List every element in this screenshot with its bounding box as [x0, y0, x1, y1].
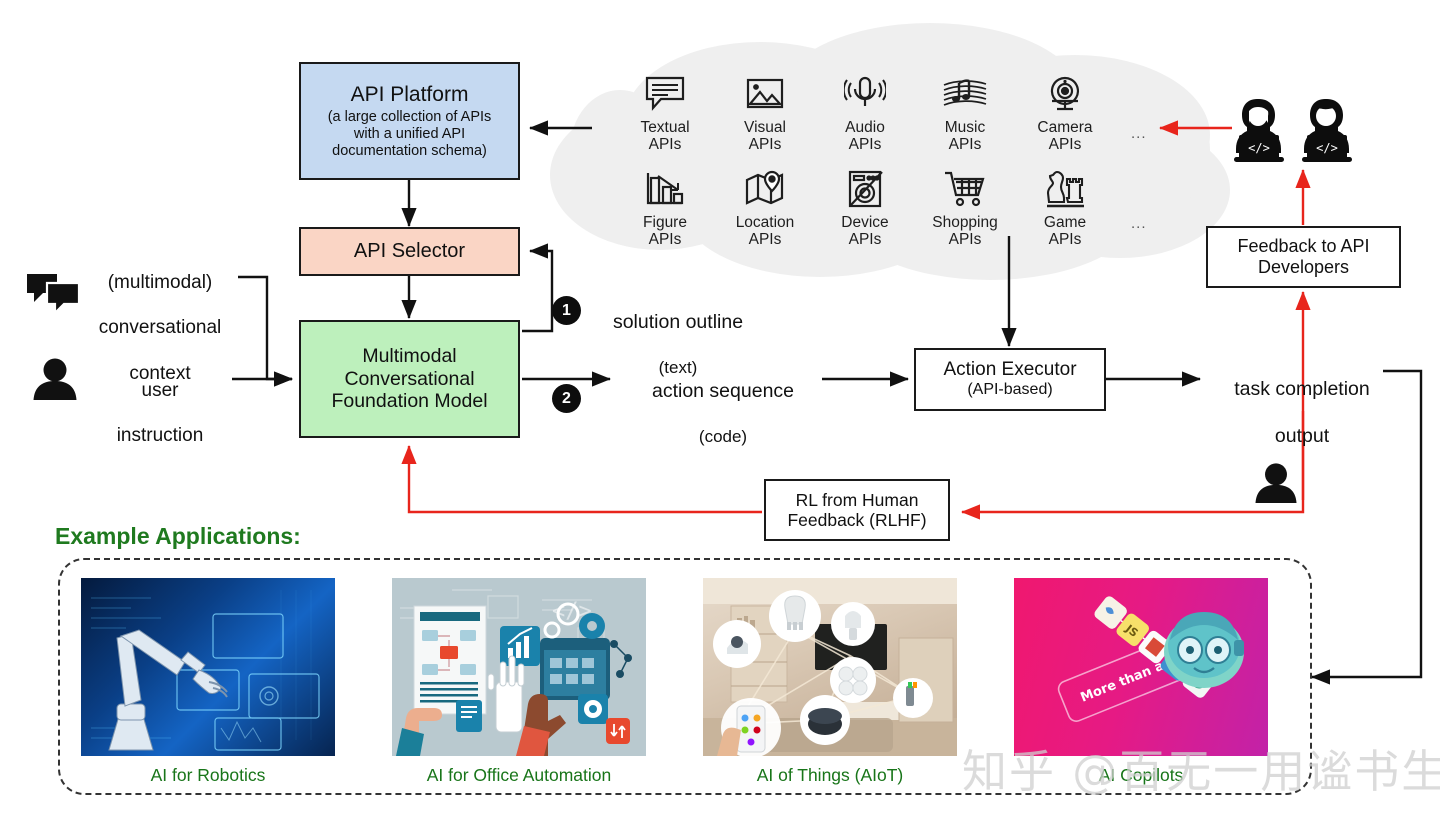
watermark: 知乎 @百无一用谧书生	[962, 735, 1440, 800]
audio-api-icon	[842, 72, 888, 116]
api-item-music[interactable]: Music APIs	[915, 72, 1015, 167]
api-item-device[interactable]: Device APIs	[815, 167, 915, 262]
action-executor-sub: (API-based)	[967, 381, 1052, 400]
chat-bubbles-icon	[25, 272, 81, 317]
api-suffix: APIs	[849, 136, 882, 153]
svg-text:</>: </>	[1316, 141, 1338, 155]
arrow-inputs-to-model	[238, 277, 292, 379]
context-line1: (multimodal)	[84, 272, 236, 295]
solution-outline-line1: solution outline	[592, 311, 764, 334]
api-platform-sub1: (a large collection of APIs	[328, 109, 492, 126]
step-1-badge: 1	[552, 296, 581, 325]
application-card-office-automation[interactable]: </>	[392, 578, 646, 786]
figure-api-icon	[642, 167, 688, 211]
api-suffix: APIs	[849, 231, 882, 248]
cloud-ellipsis-top: ...	[1131, 125, 1147, 142]
application-caption: AI for Robotics	[151, 765, 266, 786]
api-label: Device	[841, 214, 888, 231]
task-output-line1: task completion	[1202, 378, 1402, 401]
api-item-visual[interactable]: Visual APIs	[715, 72, 815, 167]
person-icon	[32, 357, 78, 406]
diagram-canvas: API Platform (a large collection of APIs…	[0, 0, 1440, 813]
api-platform-box[interactable]: API Platform (a large collection of APIs…	[299, 62, 520, 180]
music-api-icon	[942, 72, 988, 116]
api-suffix: APIs	[949, 231, 982, 248]
application-caption: AI of Things (AIoT)	[757, 765, 904, 786]
application-caption: AI for Office Automation	[427, 765, 612, 786]
api-suffix: APIs	[749, 231, 782, 248]
api-platform-sub3: documentation schema)	[332, 143, 487, 160]
visual-api-icon	[742, 72, 788, 116]
device-api-icon	[842, 167, 888, 211]
textual-api-icon	[642, 72, 688, 116]
api-item-textual[interactable]: Textual APIs	[615, 72, 715, 167]
api-label: Location	[736, 214, 795, 231]
api-label: Audio	[845, 119, 885, 136]
office-automation-illustration: </>	[392, 578, 646, 756]
feedback-line2: Developers	[1258, 257, 1349, 278]
api-platform-sub2: with a unified API	[354, 126, 465, 143]
application-card-aiot[interactable]: AI of Things (AIoT)	[703, 578, 957, 786]
shopping-api-icon	[942, 167, 988, 211]
api-icon-grid: Textual APIs Visual APIs	[615, 72, 1115, 262]
api-suffix: APIs	[649, 136, 682, 153]
feedback-to-api-developers-box[interactable]: Feedback to API Developers	[1206, 226, 1401, 288]
api-suffix: APIs	[749, 136, 782, 153]
api-label: Game	[1044, 214, 1086, 231]
foundation-model-line1: Multimodal	[362, 345, 456, 368]
action-sequence-line1: action sequence	[628, 380, 818, 403]
context-line2: conversational	[84, 317, 236, 340]
location-api-icon	[742, 167, 788, 211]
robotic-arm-blue-tech-photo	[81, 578, 335, 756]
api-item-shopping[interactable]: Shopping APIs	[915, 167, 1015, 262]
api-label: Camera	[1037, 119, 1092, 136]
task-output-line2: output	[1202, 425, 1402, 448]
api-suffix: APIs	[1049, 231, 1082, 248]
action-executor-box[interactable]: Action Executor (API-based)	[914, 348, 1106, 411]
api-selector-box[interactable]: API Selector	[299, 227, 520, 276]
api-item-figure[interactable]: Figure APIs	[615, 167, 715, 262]
foundation-model-line2: Conversational	[344, 368, 474, 391]
instruction-line2: instruction	[84, 425, 236, 448]
api-label: Visual	[744, 119, 786, 136]
foundation-model-line3: Foundation Model	[331, 390, 487, 413]
api-selector-title: API Selector	[354, 240, 465, 263]
action-sequence-label: action sequence (code)	[628, 357, 818, 471]
application-card-robotics[interactable]: AI for Robotics	[81, 578, 335, 786]
step-2-badge: 2	[552, 384, 581, 413]
api-suffix: APIs	[649, 231, 682, 248]
developers-at-laptop-icon: </> </>	[1233, 95, 1373, 175]
api-label: Shopping	[932, 214, 998, 231]
api-label: Music	[945, 119, 985, 136]
api-item-camera[interactable]: Camera APIs	[1015, 72, 1115, 167]
user-instruction-label: user instruction	[84, 357, 236, 471]
api-suffix: APIs	[949, 136, 982, 153]
feedback-line1: Feedback to API	[1237, 236, 1369, 257]
camera-api-icon	[1042, 72, 1088, 116]
action-executor-title: Action Executor	[943, 359, 1076, 381]
foundation-model-box[interactable]: Multimodal Conversational Foundation Mod…	[299, 320, 520, 438]
game-api-icon	[1042, 167, 1088, 211]
rlhf-line1: RL from Human	[796, 490, 919, 510]
svg-text:</>: </>	[1248, 141, 1270, 155]
arrow-model-to-selector-solution-outline	[522, 251, 552, 331]
task-completion-output-label: task completion output	[1202, 355, 1402, 472]
api-item-audio[interactable]: Audio APIs	[815, 72, 915, 167]
cloud-ellipsis-bottom: ...	[1131, 215, 1147, 232]
api-label: Textual	[640, 119, 689, 136]
rlhf-box[interactable]: RL from Human Feedback (RLHF)	[764, 479, 950, 541]
rlhf-line2: Feedback (RLHF)	[787, 510, 926, 530]
person-icon	[1254, 462, 1298, 509]
example-applications-heading: Example Applications:	[55, 523, 301, 550]
api-item-game[interactable]: Game APIs	[1015, 167, 1115, 262]
api-platform-title: API Platform	[351, 83, 469, 107]
api-label: Figure	[643, 214, 687, 231]
action-sequence-line2: (code)	[628, 427, 818, 447]
copilot-magenta-graphic: More than aut ocomplete JS TS	[1014, 578, 1268, 756]
api-suffix: APIs	[1049, 136, 1082, 153]
smart-home-iot-photo	[703, 578, 957, 756]
instruction-line1: user	[84, 380, 236, 403]
api-item-location[interactable]: Location APIs	[715, 167, 815, 262]
